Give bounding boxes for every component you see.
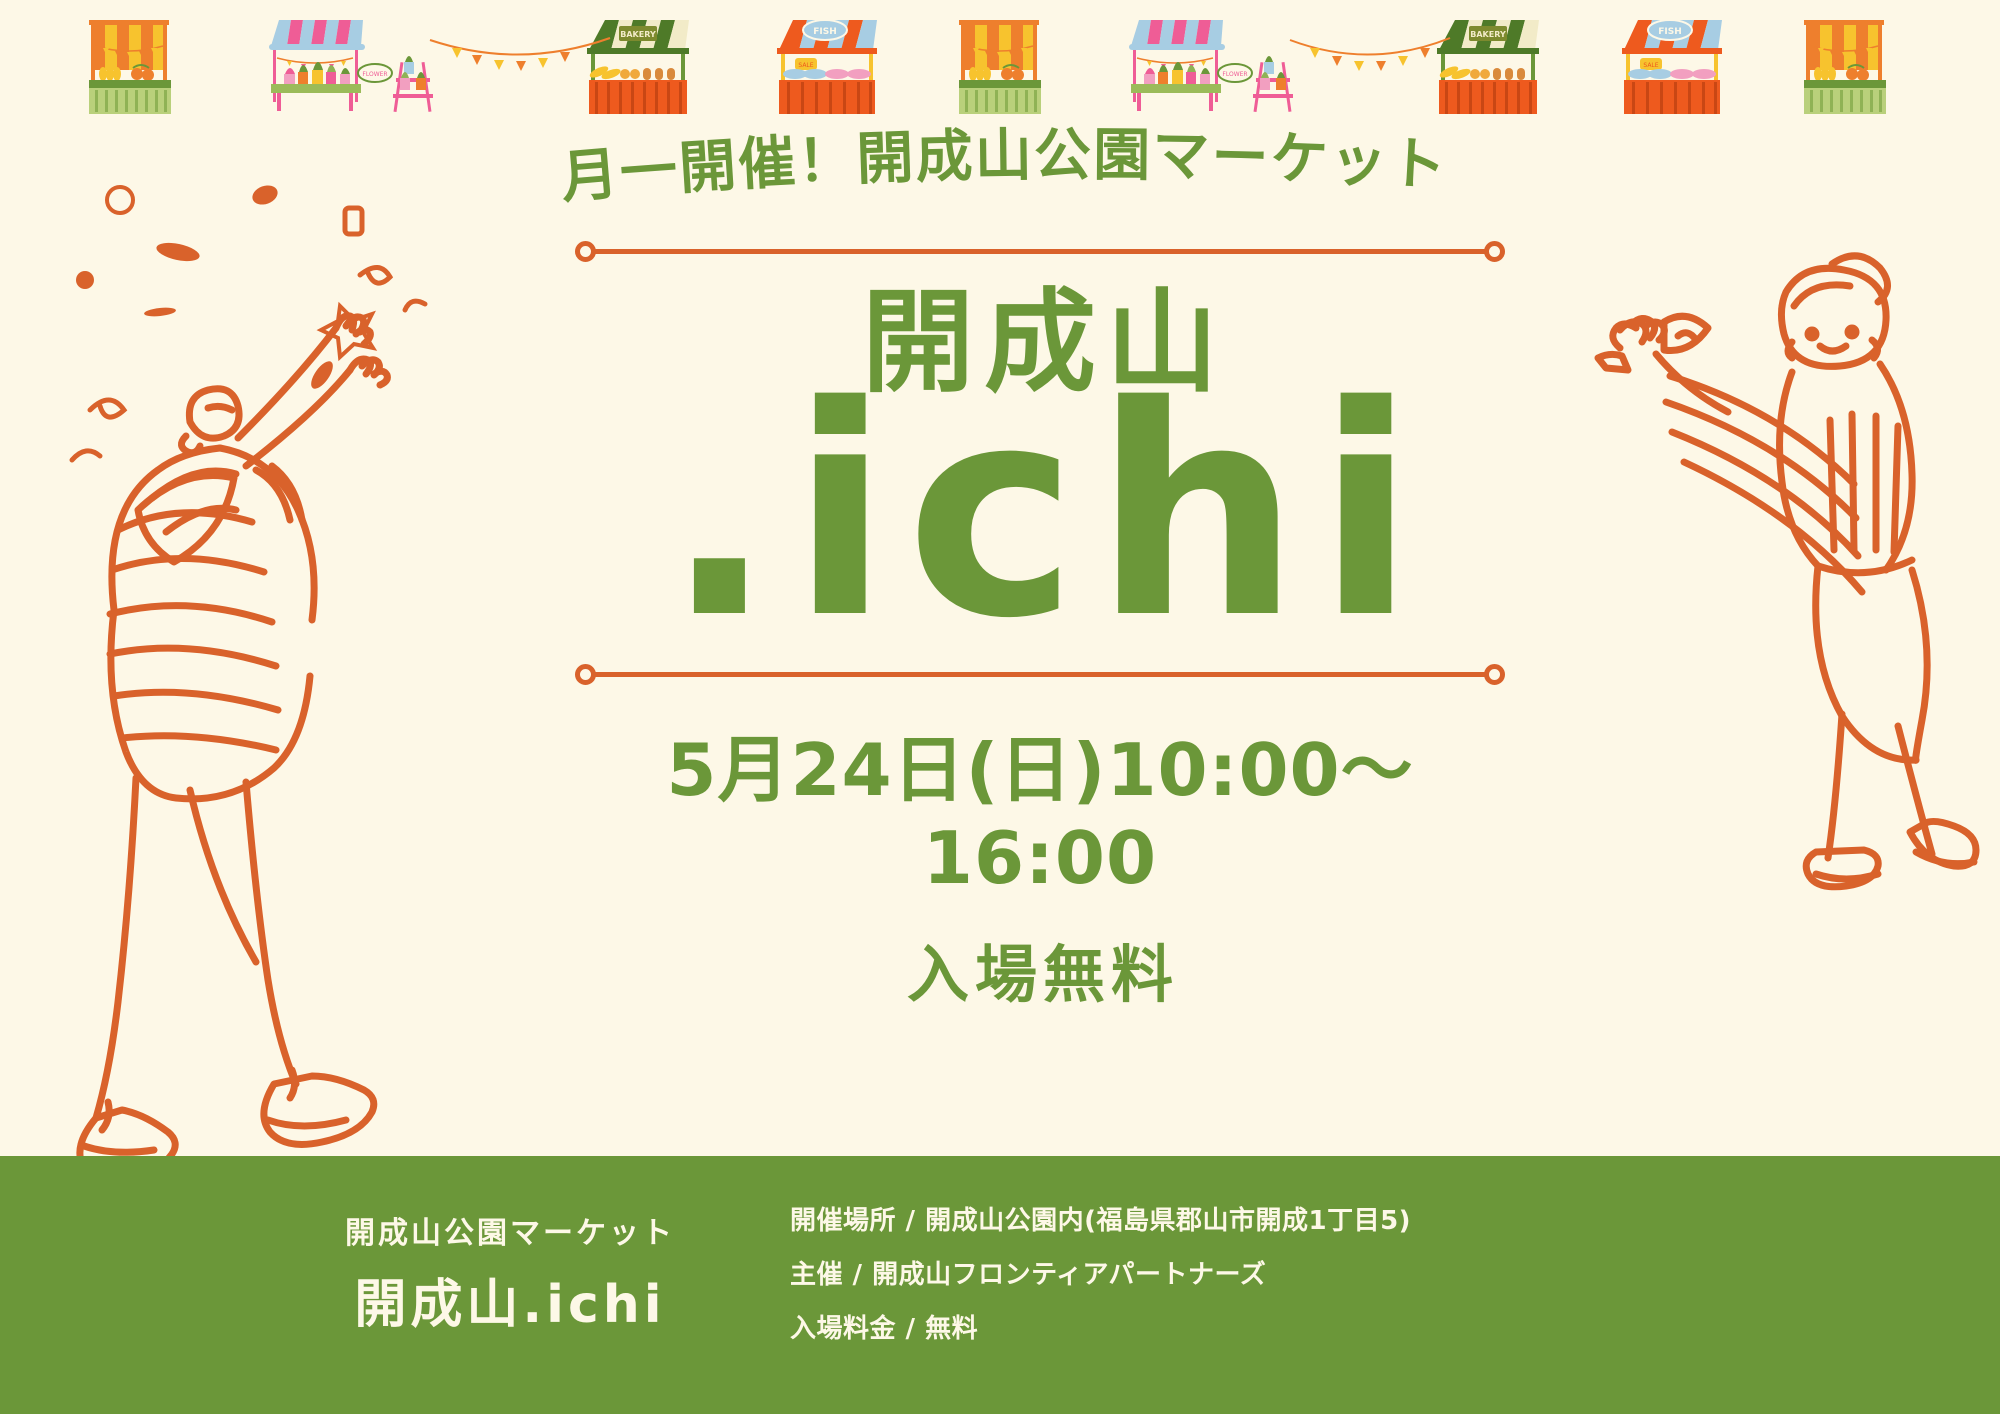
footer-logo: 開成山公園マーケット 開成山.ichi [300,1208,720,1337]
footer-logo-subtitle: 開成山公園マーケット [300,1208,720,1252]
rule-bar [586,249,1494,254]
rule-dot-left [575,664,596,685]
footer-detail-venue: 開催場所 / 開成山公園内(福島県郡山市開成1丁目5) [790,1208,1411,1234]
footer-detail-organizer: 主催 / 開成山フロンティアパートナーズ [790,1262,1411,1288]
footer-details: 開催場所 / 開成山公園内(福島県郡山市開成1丁目5) 主催 / 開成山フロンテ… [790,1208,1411,1342]
tagline-text: 月一開催！開成山公園マーケット [558,122,1449,211]
footer-logo-title: 開成山.ichi [300,1262,720,1337]
rule-dot-left [575,241,596,262]
footer-bar: 開成山公園マーケット 開成山.ichi 開催場所 / 開成山公園内(福島県郡山市… [0,1156,2000,1414]
main-logo-block: 開成山 .ichi 5月24日(日)10:00〜16:00 入場無料 [560,240,1520,1014]
admission-headline: 入場無料 [560,924,1520,1014]
person-with-raised-arms-illustration [40,230,460,1290]
footer-detail-fee: 入場料金 / 無料 [790,1316,1411,1342]
rule-dot-right [1484,241,1505,262]
brand-roman: .ichi [560,386,1520,641]
event-datetime: 5月24日(日)10:00〜16:00 [560,711,1520,900]
top-divider-rule [575,240,1505,262]
market-stalls-border: FLOWER [0,0,2000,118]
poster-canvas: FLOWER [0,0,2000,1414]
rule-dot-right [1484,664,1505,685]
rule-bar [586,672,1494,677]
bottom-divider-rule [575,663,1505,685]
person-holding-flag-illustration [1580,230,2000,1230]
